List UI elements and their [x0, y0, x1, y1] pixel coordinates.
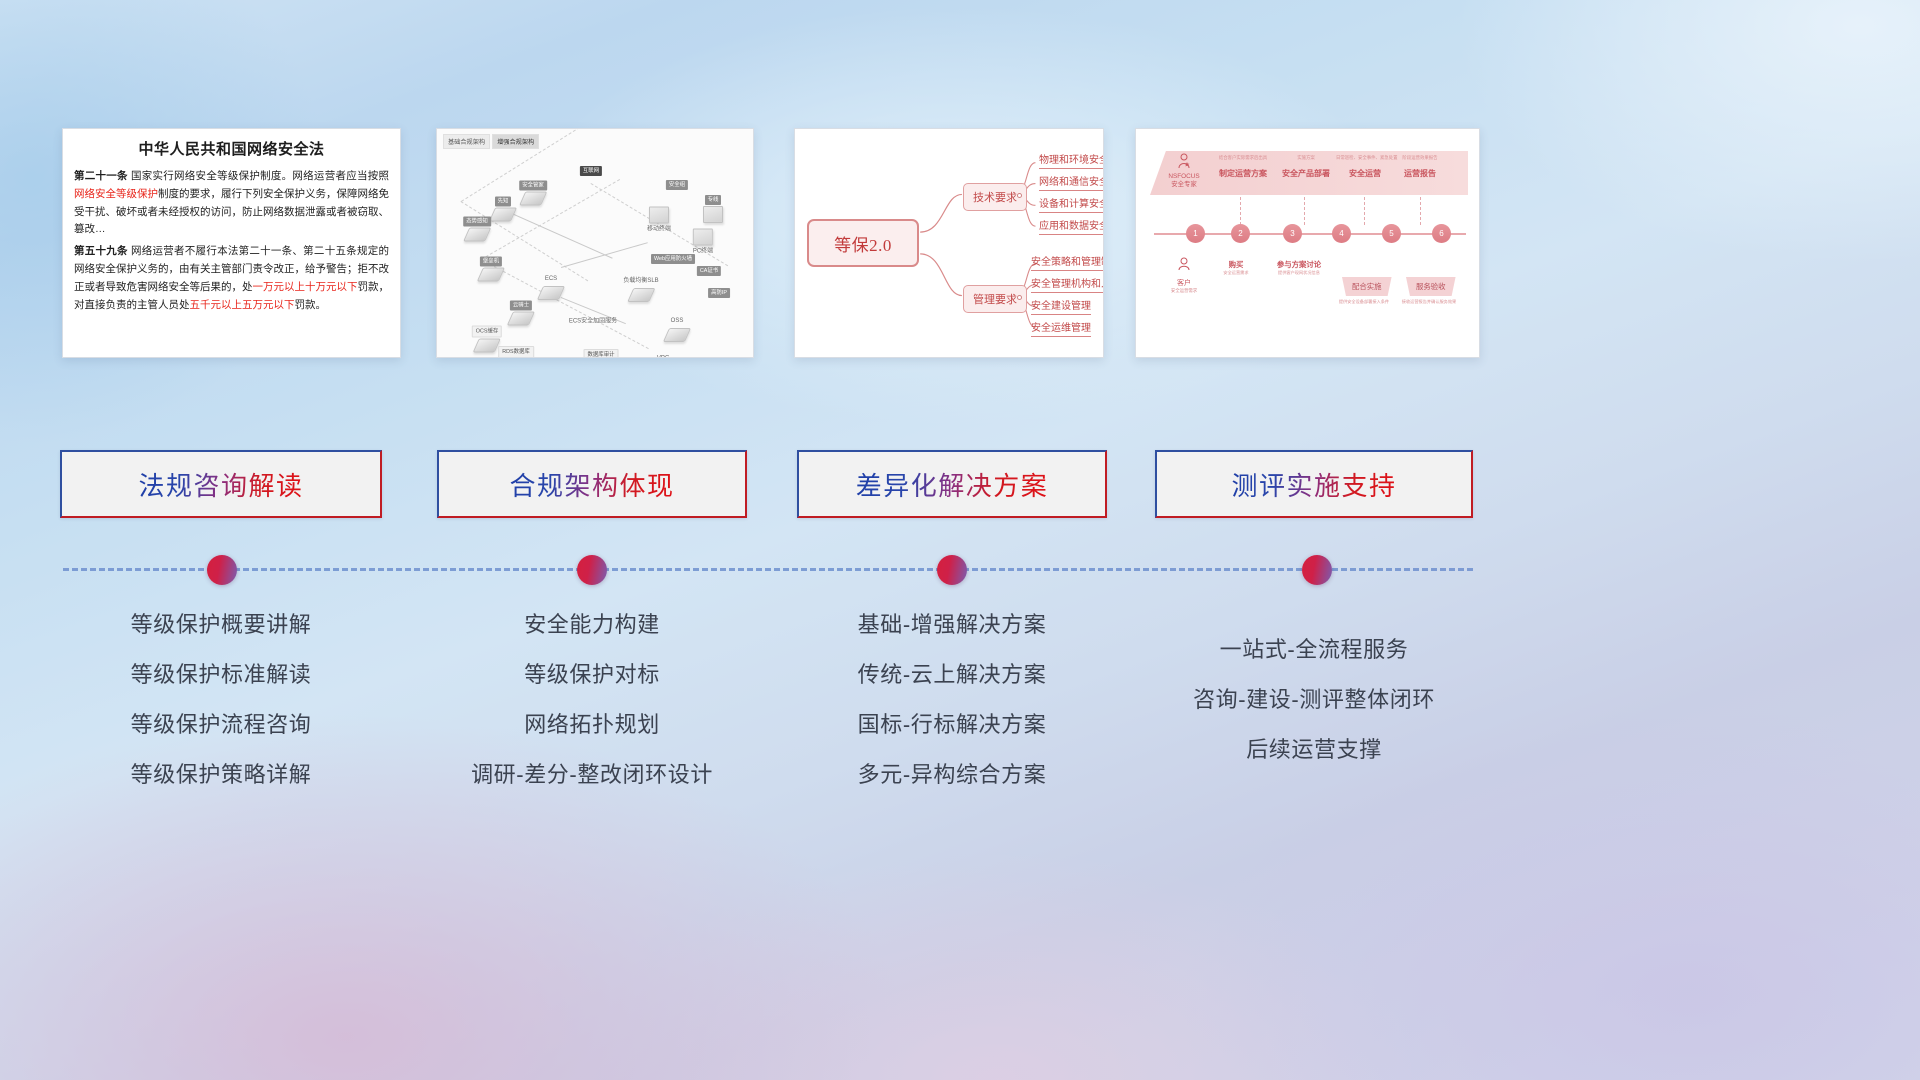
section-title-box-3[interactable]: 差异化解决方案 — [797, 450, 1107, 518]
nsfocus-node-3: 3 — [1283, 224, 1302, 243]
arch-node-shape — [519, 192, 547, 206]
section-title-row: 法规咨询解读 合规架构体现 差异化解决方案 测评实施支持 — [0, 450, 1920, 520]
nsfocus-step-sub: 实施方案 — [1278, 155, 1334, 160]
mindmap-node-dot — [1017, 193, 1022, 198]
law-article-21-text-a: 国家实行网络安全等级保护制度。网络运营者应当按照 — [128, 170, 389, 182]
arch-node-oss: OSS — [666, 316, 688, 342]
mindmap-leaf: 安全运维管理 — [1031, 319, 1091, 337]
law-article-59-highlight-a: 一万元以上十万元以下 — [253, 281, 358, 293]
expert-person-icon — [1177, 153, 1191, 169]
arch-node-label: 安全组 — [666, 180, 688, 190]
section-title-label-3: 差异化解决方案 — [856, 466, 1049, 503]
law-article-59: 第五十九条 网络运营者不履行本法第二十一条、第二十五条规定的网络安全保护义务的，… — [74, 243, 389, 314]
arch-node-label: 专线 — [705, 195, 722, 205]
nsfocus-step-main: 运营报告 — [1394, 168, 1446, 179]
arch-node-shape — [693, 229, 713, 246]
nsfocus-diagram: NSFOCUS 安全专家 结合客户实际需求后出具 制定运营方案 实施方案 安全产… — [1136, 129, 1479, 357]
arch-node-shape — [649, 207, 669, 224]
arch-node-situational-awareness: 态势感知 — [463, 216, 491, 241]
arch-node-security-group: 安全组 — [666, 180, 688, 190]
nsfocus-bottom-step-3: 提供安全设备部署接入条件 — [1334, 299, 1394, 304]
section-title-box-4[interactable]: 测评实施支持 — [1155, 450, 1473, 518]
nsfocus-bottom-step-4: 接收运营报告并确认服务效果 — [1398, 299, 1460, 304]
arch-node-label: VPC — [654, 354, 672, 359]
arch-node-shape — [463, 228, 491, 242]
section-title-label-1: 法规咨询解读 — [138, 466, 303, 503]
mindmap-node-dot — [1017, 295, 1022, 300]
nsfocus-bottom-step-2: 参与方案讨论 提供客户现网状况信息 — [1264, 259, 1334, 275]
arch-node-cloud-knight: 云骑士 — [510, 300, 532, 325]
nsfocus-customer-block: 客户 安全运营需求 — [1158, 257, 1210, 294]
arch-node-waf: Web应用防火墙 — [651, 254, 695, 264]
arch-connector — [503, 209, 613, 259]
arch-node-ca-cert: CA证书 — [697, 266, 721, 276]
nsfocus-bottom-tag-1: 配合实施 — [1342, 277, 1392, 296]
nsfocus-stem — [1240, 197, 1241, 225]
mindmap: 等保2.0 技术要求 管理要求 物理和环境安全 网络和通信安全 设备和计算安全 … — [795, 129, 1103, 357]
list-item: 调研-差分-整改闭环设计 — [437, 750, 747, 800]
nsfocus-stem — [1364, 197, 1365, 225]
list-item: 等级保护标准解读 — [60, 650, 382, 700]
nsfocus-step-4: 阶段运营效果报告 运营报告 — [1394, 155, 1446, 179]
card-cybersecurity-law[interactable]: 中华人民共和国网络安全法 第二十一条 国家实行网络安全等级保护制度。网络运营者应… — [62, 128, 401, 358]
law-article-21-label: 第二十一条 — [74, 170, 128, 182]
arch-node-leased-line: 专线 — [703, 195, 723, 223]
section-detail-lists: 等级保护概要讲解 等级保护标准解读 等级保护流程咨询 等级保护策略详解 安全能力… — [0, 600, 1920, 830]
card-mindmap-dengbao[interactable]: 等保2.0 技术要求 管理要求 物理和环境安全 网络和通信安全 设备和计算安全 … — [794, 128, 1104, 358]
list-item: 多元-异构综合方案 — [797, 750, 1107, 800]
section-title-box-1[interactable]: 法规咨询解读 — [60, 450, 382, 518]
arch-node-label: 先知 — [495, 196, 512, 206]
law-article-21-highlight: 网络安全等级保护 — [74, 188, 158, 200]
timeline-dot-2[interactable] — [577, 555, 607, 585]
arch-node-label: OSS — [668, 316, 687, 327]
nsfocus-node-5: 5 — [1382, 224, 1401, 243]
arch-node-label: 互联网 — [580, 166, 602, 176]
detail-list-1: 等级保护概要讲解 等级保护标准解读 等级保护流程咨询 等级保护策略详解 — [60, 600, 382, 800]
timeline — [0, 540, 1920, 600]
nsfocus-bottom-tag-2: 服务验收 — [1406, 277, 1456, 296]
timeline-dot-3[interactable] — [937, 555, 967, 585]
nsfocus-step-1: 结合客户实际需求后出具 制定运营方案 — [1212, 155, 1274, 179]
law-article-59-highlight-b: 五千元以上五万元以下 — [190, 299, 295, 311]
nsfocus-bottom-main: 参与方案讨论 — [1264, 259, 1334, 270]
detail-list-2: 安全能力构建 等级保护对标 网络拓扑规划 调研-差分-整改闭环设计 — [437, 600, 747, 800]
mindmap-leaf: 安全建设管理 — [1031, 297, 1091, 315]
law-article-59-text-c: 罚款。 — [295, 299, 327, 311]
nsfocus-step-sub: 阶段运营效果报告 — [1394, 155, 1446, 160]
arch-node-ecs: ECS — [540, 274, 562, 300]
nsfocus-node-1: 1 — [1186, 224, 1205, 243]
arch-node-rds: RDS数据库 — [498, 346, 534, 358]
timeline-dashed-line — [63, 568, 1473, 571]
list-item: 传统-云上解决方案 — [797, 650, 1107, 700]
nsfocus-step-main: 制定运营方案 — [1212, 168, 1274, 179]
nsfocus-bottom-step-1: 购买 安全运营需求 — [1214, 259, 1258, 275]
nsfocus-stem — [1304, 197, 1305, 225]
arch-node-label: RDS数据库 — [498, 346, 534, 358]
law-article-21: 第二十一条 国家实行网络安全等级保护制度。网络运营者应当按照网络安全等级保护制度… — [74, 168, 389, 239]
arch-node-shape — [473, 339, 501, 353]
arch-node-ecs-hardening: ECS安全加固服务 — [566, 317, 620, 328]
arch-node-shape — [627, 288, 655, 302]
list-item: 咨询-建设-测评整体闭环 — [1155, 675, 1473, 725]
arch-node-label: 堡垒机 — [480, 256, 502, 266]
arch-node-label: ECS — [542, 274, 560, 285]
arch-node-shape — [537, 286, 565, 300]
arch-node-shape — [663, 328, 691, 342]
customer-person-icon — [1177, 257, 1191, 271]
mindmap-leaf: 物理和环境安全 — [1039, 151, 1104, 169]
nsfocus-step-main: 安全运营 — [1336, 168, 1394, 179]
arch-node-label: 安全管家 — [519, 180, 547, 190]
nsfocus-node-6: 6 — [1432, 224, 1451, 243]
arch-node-shape — [477, 268, 505, 282]
mindmap-leaf: 安全管理机构和人员 — [1031, 275, 1104, 293]
mindmap-leaf: 安全策略和管理制度 — [1031, 253, 1104, 271]
mindmap-root: 等保2.0 — [807, 219, 919, 267]
arch-node-security-butler: 安全管家 — [519, 180, 547, 205]
arch-node-vpc: VPC — [654, 354, 672, 359]
arch-node-label: 数据库审计 — [584, 349, 619, 358]
nsfocus-bottom-sub: 接收运营报告并确认服务效果 — [1398, 299, 1460, 304]
arch-node-internet: 互联网 — [580, 166, 602, 176]
arch-connector — [561, 242, 648, 268]
arch-node-label: CA证书 — [697, 266, 721, 276]
arch-guide-line — [481, 259, 649, 349]
mindmap-leaf: 设备和计算安全 — [1039, 195, 1104, 213]
section-title-box-2[interactable]: 合规架构体现 — [437, 450, 747, 518]
arch-node-label: 云骑士 — [510, 300, 532, 310]
arch-node-slb: 负载均衡SLB — [620, 276, 661, 302]
law-article-59-label: 第五十九条 — [74, 245, 128, 257]
nsfocus-node-2: 2 — [1231, 224, 1250, 243]
list-item: 等级保护策略详解 — [60, 750, 382, 800]
arch-node-shape — [703, 206, 723, 223]
list-item: 基础-增强解决方案 — [797, 600, 1107, 650]
nsfocus-node-4: 4 — [1332, 224, 1351, 243]
list-item: 等级保护概要讲解 — [60, 600, 382, 650]
timeline-dot-1[interactable] — [207, 555, 237, 585]
card-cloud-architecture[interactable]: 基础合规架构 增强合规架构 互联网 安全管家 — [436, 128, 754, 358]
nsfocus-step-sub: 日常巡检、安全事件、紧急处置 — [1336, 155, 1394, 160]
nsfocus-step-sub: 结合客户实际需求后出具 — [1212, 155, 1274, 160]
detail-list-4: 一站式-全流程服务 咨询-建设-测评整体闭环 后续运营支撑 — [1155, 625, 1473, 775]
list-item: 后续运营支撑 — [1155, 725, 1473, 775]
list-item: 国标-行标解决方案 — [797, 700, 1107, 750]
list-item: 等级保护流程咨询 — [60, 700, 382, 750]
arch-node-label: OCS缓存 — [472, 325, 502, 337]
list-item: 等级保护对标 — [437, 650, 747, 700]
nsfocus-customer-sub: 安全运营需求 — [1158, 288, 1210, 294]
nsfocus-step-main: 安全产品部署 — [1278, 168, 1334, 179]
nsfocus-brand: NSFOCUS — [1160, 173, 1208, 182]
law-document: 中华人民共和国网络安全法 第二十一条 国家实行网络安全等级保护制度。网络运营者应… — [63, 129, 400, 324]
timeline-dot-4[interactable] — [1302, 555, 1332, 585]
arch-node-label: 高防IP — [708, 288, 730, 298]
card-nsfocus-timeline[interactable]: NSFOCUS 安全专家 结合客户实际需求后出具 制定运营方案 实施方案 安全产… — [1135, 128, 1480, 358]
arch-node-bastion: 堡垒机 — [480, 256, 502, 281]
architecture-canvas: 互联网 安全管家 先知 态势感知 堡垒机 — [441, 147, 749, 353]
arch-node-pc-terminal: PC终端 — [690, 229, 716, 258]
slide-stage: 中华人民共和国网络安全法 第二十一条 国家实行网络安全等级保护制度。网络运营者应… — [0, 0, 1920, 1080]
arch-node-label: 移动终端 — [644, 225, 674, 236]
arch-node-shape — [507, 312, 535, 326]
arch-node-label: ECS安全加固服务 — [566, 317, 620, 328]
nsfocus-bottom-sub: 安全运营需求 — [1214, 270, 1258, 275]
arch-node-label: PC终端 — [690, 247, 716, 258]
arch-node-anti-ddos: 高防IP — [708, 288, 730, 298]
arch-node-xianzhi: 先知 — [492, 196, 514, 221]
nsfocus-customer-title: 客户 — [1158, 278, 1210, 288]
thumbnail-card-row: 中华人民共和国网络安全法 第二十一条 国家实行网络安全等级保护制度。网络运营者应… — [0, 128, 1920, 358]
nsfocus-bottom-sub: 提供安全设备部署接入条件 — [1334, 299, 1394, 304]
mindmap-leaf: 应用和数据安全 — [1039, 217, 1104, 235]
architecture-diagram: 基础合规架构 增强合规架构 互联网 安全管家 — [437, 129, 753, 357]
nsfocus-step-3: 日常巡检、安全事件、紧急处置 安全运营 — [1336, 155, 1394, 179]
nsfocus-step-2: 实施方案 安全产品部署 — [1278, 155, 1334, 179]
nsfocus-bottom-main: 购买 — [1214, 259, 1258, 270]
arch-node-shape — [489, 208, 517, 222]
list-item: 网络拓扑规划 — [437, 700, 747, 750]
section-title-label-4: 测评实施支持 — [1231, 466, 1396, 503]
arch-node-label: 负载均衡SLB — [620, 276, 661, 287]
arch-node-label: Web应用防火墙 — [651, 254, 695, 264]
detail-list-3: 基础-增强解决方案 传统-云上解决方案 国标-行标解决方案 多元-异构综合方案 — [797, 600, 1107, 800]
nsfocus-expert-block: NSFOCUS 安全专家 — [1160, 153, 1208, 190]
arch-node-db-audit: 数据库审计 — [584, 349, 619, 358]
nsfocus-bottom-sub: 提供客户现网状况信息 — [1264, 270, 1334, 275]
mindmap-leaf: 网络和通信安全 — [1039, 173, 1104, 191]
law-title: 中华人民共和国网络安全法 — [74, 138, 389, 159]
nsfocus-brand-sub: 安全专家 — [1160, 181, 1208, 190]
nsfocus-stem — [1420, 197, 1421, 225]
arch-node-label: 态势感知 — [463, 216, 491, 226]
arch-node-mobile-terminal: 移动终端 — [644, 207, 674, 236]
section-title-label-2: 合规架构体现 — [509, 466, 674, 503]
list-item: 一站式-全流程服务 — [1155, 625, 1473, 675]
list-item: 安全能力构建 — [437, 600, 747, 650]
